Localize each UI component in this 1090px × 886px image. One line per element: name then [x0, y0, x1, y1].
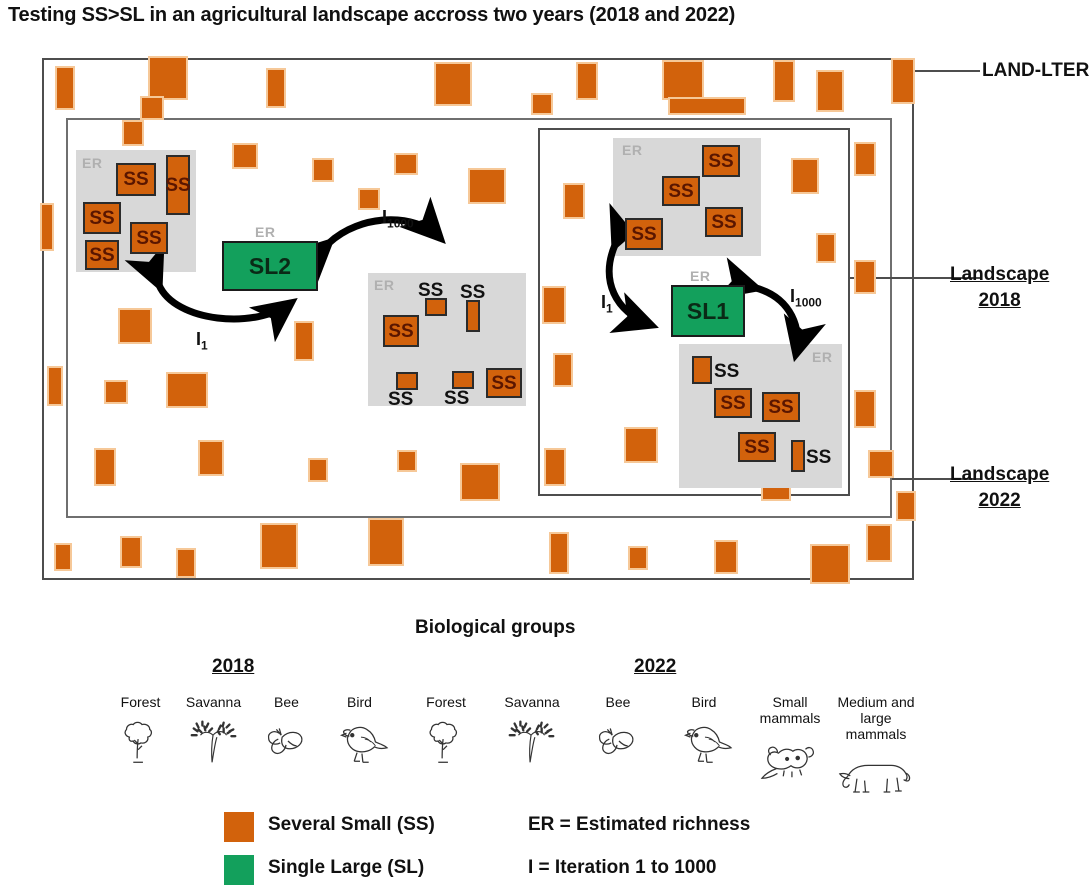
background-patch — [96, 450, 114, 484]
background-patch — [470, 170, 504, 202]
ss-patch-label: SS — [631, 225, 656, 244]
biological-group-label: Savanna — [177, 694, 250, 710]
background-patch — [793, 160, 817, 192]
background-patch — [314, 160, 332, 180]
background-patch — [544, 288, 564, 322]
ss-patch — [692, 356, 712, 384]
background-patch — [546, 450, 564, 484]
legend-label-sl: Single Large (SL) — [268, 857, 424, 879]
biological-group-label: Forest — [104, 694, 177, 710]
background-patch — [106, 382, 126, 402]
ss-patch — [396, 372, 418, 390]
er-tag: ER — [812, 349, 832, 365]
biological-group-small-mammal: Small mammals — [747, 694, 833, 791]
landscape-2022-line1: Landscape — [950, 462, 1049, 488]
ss-patch: SS — [714, 388, 752, 418]
legend-swatch-sl — [224, 855, 254, 885]
landscape-2022-line2: 2022 — [950, 488, 1049, 514]
er-tag: ER — [622, 142, 642, 158]
biological-group-label: Savanna — [489, 694, 575, 710]
background-patch — [870, 452, 892, 476]
biological-group-label: Bee — [250, 694, 323, 710]
biological-group-tree-forest: Forest — [104, 694, 177, 775]
biological-group-bird: Bird — [323, 694, 396, 775]
background-patch — [462, 465, 498, 499]
sl2-label: SL2 — [249, 253, 291, 280]
biological-group-large-mammal: Medium and large mammals — [833, 694, 919, 805]
figure-title: Testing SS>SL in an agricultural landsca… — [8, 4, 735, 27]
ss-patch-label: SS — [768, 398, 793, 417]
background-patch — [818, 235, 834, 261]
ss-patch-label: SS — [89, 209, 114, 228]
background-patch — [856, 392, 874, 426]
background-patch — [856, 262, 874, 292]
background-patch — [716, 542, 736, 572]
ss-patch: SS — [625, 218, 663, 250]
ss-patch: SS — [116, 163, 156, 196]
ss-patch: SS — [166, 155, 190, 215]
year-heading-2022: 2022 — [634, 656, 676, 678]
background-patch — [818, 72, 842, 110]
er-tag: ER — [374, 277, 394, 293]
bird-icon — [661, 712, 747, 775]
biological-groups-heading: Biological groups — [415, 617, 575, 639]
background-patch — [533, 95, 551, 113]
tree-forest-icon — [104, 712, 177, 775]
ss-patch — [452, 371, 474, 389]
bee-icon — [575, 712, 661, 775]
background-patch — [893, 60, 913, 102]
background-patch — [168, 374, 206, 406]
large-mammal-icon — [833, 744, 919, 805]
background-patch — [142, 98, 162, 118]
biological-group-label: Small mammals — [747, 694, 833, 726]
landscape-2018-line2: 2018 — [950, 288, 1049, 314]
leader-line-study-region — [914, 70, 980, 72]
iteration-label-last-left: I1000 — [382, 207, 414, 231]
background-patch — [812, 546, 848, 582]
small-mammal-icon — [747, 728, 833, 791]
study-region-line1: LAND-LTER — [982, 60, 1089, 81]
legend-swatch-ss — [224, 812, 254, 842]
ss-patch-outside-label: SS — [714, 362, 739, 381]
iteration-label-first-right: I1 — [601, 292, 613, 316]
bee-icon — [250, 712, 323, 775]
background-patch — [56, 545, 70, 569]
bird-icon — [323, 712, 396, 775]
ss-patch-label: SS — [711, 213, 736, 232]
background-patch — [898, 493, 914, 519]
ss-patch-outside-label: SS — [388, 390, 413, 409]
landscape-2018-line1: Landscape — [950, 262, 1049, 288]
biological-group-bee: Bee — [250, 694, 323, 775]
background-patch — [268, 70, 284, 106]
ss-patch-outside-label: SS — [444, 389, 469, 408]
sl2-box: SL2 — [222, 241, 318, 291]
biological-group-label: Medium and large mammals — [833, 694, 919, 742]
background-patch — [234, 145, 256, 167]
biological-group-label: Bee — [575, 694, 661, 710]
biological-group-tree-forest: Forest — [403, 694, 489, 775]
ss-patch: SS — [130, 222, 168, 254]
ss-patch-outside-label: SS — [418, 281, 443, 300]
background-patch — [626, 429, 656, 461]
ss-patch: SS — [705, 207, 743, 237]
tree-savanna-icon — [177, 712, 250, 775]
ss-patch — [791, 440, 805, 472]
ss-patch-label: SS — [165, 176, 190, 195]
biological-group-bee: Bee — [575, 694, 661, 775]
background-patch — [763, 487, 789, 499]
ss-patch-label: SS — [388, 322, 413, 341]
background-patch — [399, 452, 415, 470]
background-patch — [565, 185, 583, 217]
background-patch — [122, 538, 140, 566]
biological-group-tree-savanna: Savanna — [489, 694, 575, 775]
background-patch — [178, 550, 194, 576]
ss-patch: SS — [702, 145, 740, 177]
background-patch — [370, 520, 402, 564]
background-patch — [120, 310, 150, 342]
ss-patch: SS — [85, 240, 119, 270]
background-patch — [551, 534, 567, 572]
background-patch — [150, 58, 186, 98]
ss-patch: SS — [738, 432, 776, 462]
ss-patch-label: SS — [89, 246, 114, 265]
ss-patch-label: SS — [123, 170, 148, 189]
background-patch — [124, 122, 142, 144]
label-landscape-2022: Landscape 2022 — [950, 462, 1049, 513]
diagram-canvas: Testing SS>SL in an agricultural landsca… — [0, 0, 1090, 886]
ss-patch: SS — [383, 315, 419, 347]
iteration-label-last-right: I1000 — [790, 286, 822, 310]
ss-patch-outside-label: SS — [460, 283, 485, 302]
ss-patch: SS — [83, 202, 121, 234]
iteration-first-sub: 1 — [201, 339, 208, 353]
background-patch — [664, 62, 702, 98]
legend-label-iteration: I = Iteration 1 to 1000 — [528, 857, 717, 879]
ss-patch-label: SS — [744, 438, 769, 457]
background-patch — [555, 355, 571, 385]
biological-group-label: Bird — [661, 694, 747, 710]
ss-patch: SS — [662, 176, 700, 206]
tree-savanna-icon — [489, 712, 575, 775]
iteration-first-sub-r: 1 — [606, 302, 613, 316]
background-patch — [310, 460, 326, 480]
er-tag: ER — [82, 155, 102, 171]
background-patch — [49, 368, 61, 404]
background-patch — [868, 526, 890, 560]
biological-group-label: Bird — [323, 694, 396, 710]
background-patch — [630, 548, 646, 568]
label-land-lter-study-region: LAND-LTER study region — [982, 58, 1090, 84]
background-patch — [42, 205, 52, 249]
background-patch — [396, 155, 416, 173]
ss-patch-outside-label: SS — [806, 448, 831, 467]
label-landscape-2018: Landscape 2018 — [950, 262, 1049, 313]
ss-patch: SS — [486, 368, 522, 398]
er-tag: ER — [690, 268, 710, 284]
ss-patch-label: SS — [708, 152, 733, 171]
biological-group-label: Forest — [403, 694, 489, 710]
tree-forest-icon — [403, 712, 489, 775]
ss-patch-label: SS — [720, 394, 745, 413]
ss-patch: SS — [762, 392, 800, 422]
ss-patch-label: SS — [668, 182, 693, 201]
sl1-label: SL1 — [687, 298, 729, 325]
background-patch — [200, 442, 222, 474]
background-patch — [578, 64, 596, 98]
year-heading-2018: 2018 — [212, 656, 254, 678]
background-patch — [670, 99, 744, 113]
background-patch — [360, 190, 378, 208]
background-patch — [57, 68, 73, 108]
er-tag: ER — [255, 224, 275, 240]
legend-label-er: ER = Estimated richness — [528, 814, 750, 836]
iteration-last-sub: 1000 — [387, 217, 414, 231]
ss-patch-label: SS — [491, 374, 516, 393]
background-patch — [436, 64, 470, 104]
iteration-label-first-left: I1 — [196, 329, 208, 353]
ss-patch-label: SS — [136, 229, 161, 248]
iteration-last-sub-r: 1000 — [795, 296, 822, 310]
background-patch — [296, 323, 312, 359]
ss-patch — [466, 300, 480, 332]
background-patch — [856, 144, 874, 174]
background-patch — [775, 62, 793, 100]
legend-label-ss: Several Small (SS) — [268, 814, 435, 836]
biological-group-bird: Bird — [661, 694, 747, 775]
sl1-box: SL1 — [671, 285, 745, 337]
background-patch — [262, 525, 296, 567]
biological-group-tree-savanna: Savanna — [177, 694, 250, 775]
